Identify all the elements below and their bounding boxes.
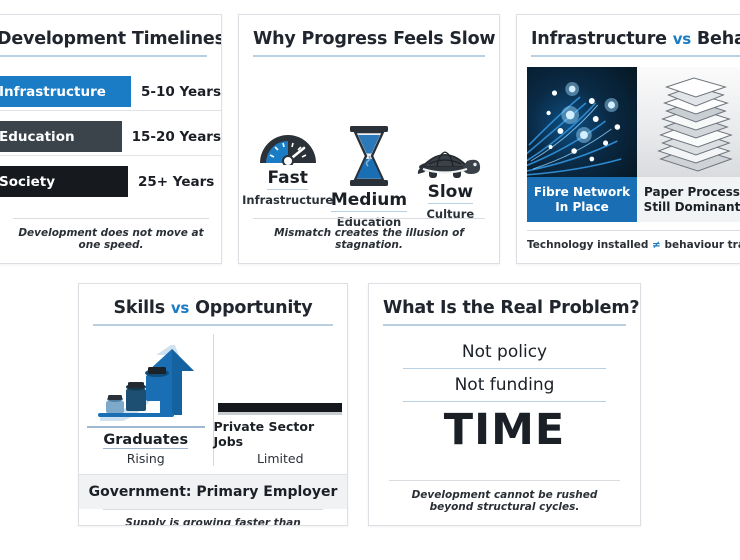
speed-label: Medium xyxy=(331,190,407,212)
card-title: Why Progress Feels Slow xyxy=(253,15,485,57)
card-title-right: Opportunity xyxy=(195,298,312,318)
card-title-vs: vs xyxy=(171,299,189,317)
bar-row: Education 15-20 Years xyxy=(0,120,221,156)
card-footnote: Development does not move at one speed. xyxy=(13,218,209,251)
panel-paper-process: Paper Process Still Dominant xyxy=(637,67,740,222)
private-sector-sublabel: Limited xyxy=(257,451,304,466)
card-title: Skills vs Opportunity xyxy=(93,284,333,326)
bar-value: 5-10 Years xyxy=(131,84,221,100)
card-development-timelines: Development Timelines Infrastructure 5-1… xyxy=(0,14,222,264)
not-equal-icon: ≠ xyxy=(652,239,661,251)
card-title-right: Behaviour xyxy=(697,29,740,49)
card-skills-vs-opportunity: Skills vs Opportunity xyxy=(78,283,348,526)
speed-comparison-row: Fast Infrastructure Medium Education xyxy=(239,57,499,207)
footnote-part-b: behaviour transformed xyxy=(661,239,740,251)
infographic-board: Development Timelines Infrastructure 5-1… xyxy=(0,0,740,560)
problem-answer: TIME xyxy=(403,408,606,453)
skills-comparison: Graduates Rising Private Sector Jobs Lim… xyxy=(79,334,347,466)
card-footnote: Technology installed ≠ behaviour transfo… xyxy=(527,230,740,251)
bar-infrastructure: Infrastructure xyxy=(0,76,131,107)
card-title-left: Skills xyxy=(113,298,164,318)
bar-row: Infrastructure 5-10 Years xyxy=(0,75,221,111)
card-footnote: Mismatch creates the illusion of stagnat… xyxy=(253,218,485,251)
timeline-bar-chart: Infrastructure 5-10 Years Education 15-2… xyxy=(0,75,221,200)
bar-value: 15-20 Years xyxy=(122,129,221,145)
card-title: Infrastructure vs Behaviour xyxy=(531,15,740,57)
speed-item-medium: Medium Education xyxy=(329,125,410,229)
panel-caption: Paper Process Still Dominant xyxy=(637,177,740,222)
caption-line-2: Still Dominant xyxy=(644,200,740,215)
fibre-optic-image xyxy=(527,67,637,177)
card-infrastructure-vs-behaviour: Infrastructure vs Behaviour xyxy=(516,14,740,264)
caption-line-1: Fibre Network xyxy=(534,185,630,200)
hourglass-icon xyxy=(346,125,392,187)
half-private-sector: Private Sector Jobs Limited xyxy=(214,334,348,466)
problem-answer-stack: Not policy Not funding TIME xyxy=(369,326,640,453)
bar-label: Society xyxy=(0,174,55,190)
panel-caption: Fibre Network In Place xyxy=(527,177,637,222)
speed-item-slow: Slow Culture xyxy=(410,117,491,221)
flat-bar-icon xyxy=(218,339,342,415)
private-sector-label: Private Sector Jobs xyxy=(214,419,348,449)
graduates-label: Graduates xyxy=(103,432,188,449)
card-real-problem: What Is the Real Problem? Not policy Not… xyxy=(368,283,641,526)
card-title-left: Infrastructure xyxy=(531,29,667,49)
bar-label: Education xyxy=(0,129,75,145)
problem-line: Not policy xyxy=(403,342,606,369)
graduates-rule xyxy=(87,426,205,428)
government-banner: Government: Primary Employer xyxy=(79,474,347,509)
panel-fibre-network: Fibre Network In Place xyxy=(527,67,637,222)
problem-line: Not funding xyxy=(403,375,606,402)
card-footnote: Supply is growing faster than demand. xyxy=(103,509,323,526)
caption-line-1: Paper Process xyxy=(644,185,740,200)
speed-label: Fast xyxy=(267,168,307,190)
graduates-sublabel: Rising xyxy=(127,451,165,466)
half-graduates: Graduates Rising xyxy=(79,334,214,466)
card-title: What Is the Real Problem? xyxy=(383,284,626,326)
bar-label: Infrastructure xyxy=(0,84,106,100)
card-footnote: Development cannot be rushed beyond stru… xyxy=(389,480,620,513)
speed-item-fast: Fast Infrastructure xyxy=(247,103,328,207)
speedometer-icon xyxy=(256,103,320,165)
bar-education: Education xyxy=(0,121,122,152)
caption-line-2: In Place xyxy=(555,200,608,215)
footnote-part-a: Technology installed xyxy=(527,239,652,251)
card-title: Development Timelines xyxy=(0,15,207,57)
speed-label: Slow xyxy=(428,182,473,204)
rising-arrow-graduates-icon xyxy=(94,345,198,421)
bar-row: Society 25+ Years xyxy=(0,165,221,200)
bar-value: 25+ Years xyxy=(128,174,214,190)
comparison-panels: Fibre Network In Place xyxy=(527,67,740,222)
card-title-vs: vs xyxy=(673,30,691,48)
paper-stack-image xyxy=(637,67,740,177)
speed-sublabel: Infrastructure xyxy=(242,193,333,207)
bar-society: Society xyxy=(0,166,128,197)
turtle-icon xyxy=(415,117,485,179)
card-why-progress-feels-slow: Why Progress Feels Slow xyxy=(238,14,500,264)
